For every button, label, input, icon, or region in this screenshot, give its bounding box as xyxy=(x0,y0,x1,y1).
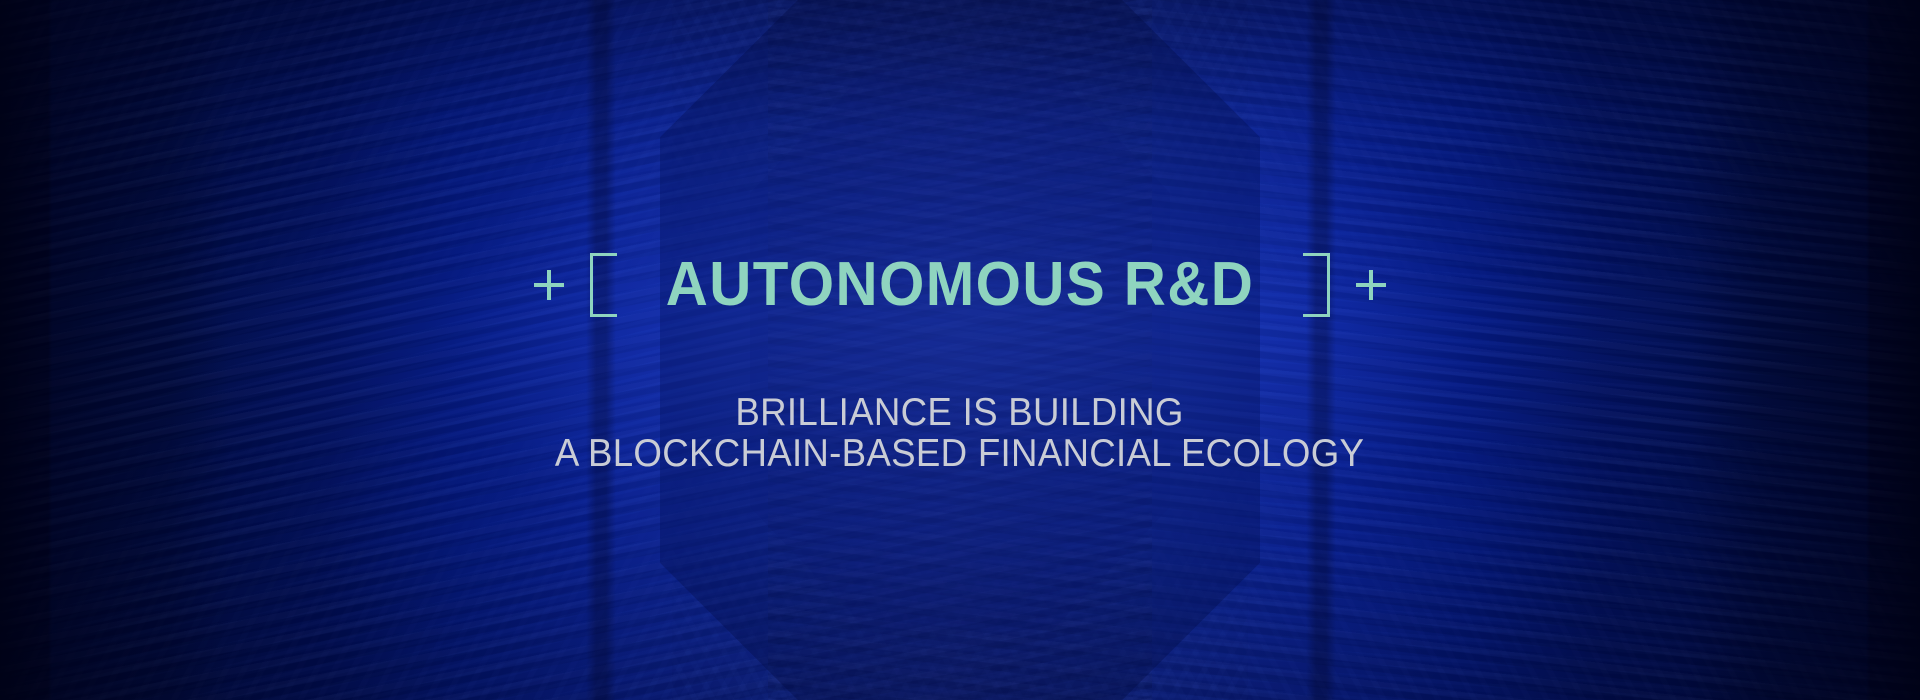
bracket-left-icon xyxy=(590,253,617,317)
bracket-right-icon xyxy=(1303,253,1330,317)
page-title: AUTONOMOUS R&D xyxy=(662,254,1258,316)
hero-banner: AUTONOMOUS R&D BRILLIANCE IS BUILDING A … xyxy=(0,0,1920,700)
subtitle: BRILLIANCE IS BUILDING A BLOCKCHAIN-BASE… xyxy=(555,392,1364,474)
title-row: AUTONOMOUS R&D xyxy=(534,212,1386,357)
subtitle-line-1: BRILLIANCE IS BUILDING xyxy=(555,392,1364,433)
banner-content: AUTONOMOUS R&D BRILLIANCE IS BUILDING A … xyxy=(0,0,1920,700)
plus-icon-left xyxy=(534,270,564,300)
subtitle-line-2: A BLOCKCHAIN-BASED FINANCIAL ECOLOGY xyxy=(555,433,1364,474)
plus-icon-right xyxy=(1356,270,1386,300)
